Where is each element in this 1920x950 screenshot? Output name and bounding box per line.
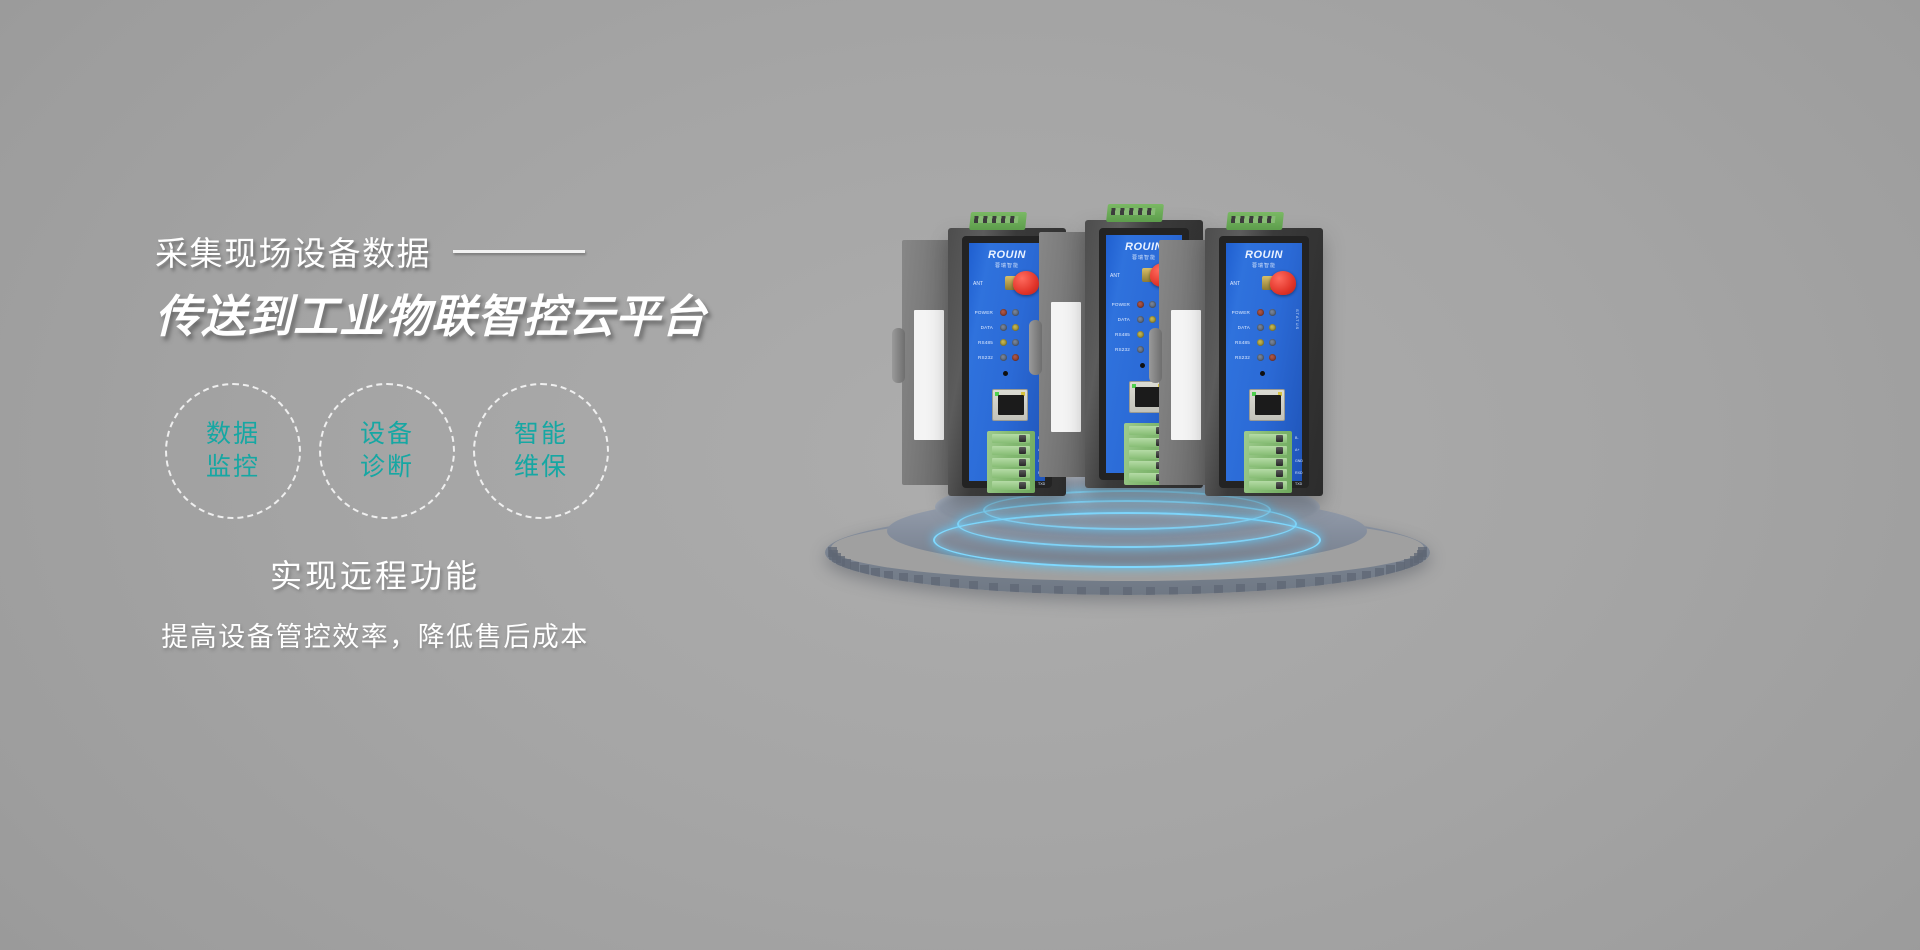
brand-logo: ROUIN bbox=[1125, 241, 1163, 253]
pedestal-tooth bbox=[931, 577, 940, 587]
pedestal-tooth bbox=[1375, 568, 1384, 578]
pedestal-tooth bbox=[1010, 584, 1019, 594]
headline-line-2: 传送到工业物联智控云平台 bbox=[155, 280, 855, 345]
status-led-indicator bbox=[1149, 316, 1156, 323]
status-led-label: DATA bbox=[1109, 317, 1132, 322]
power-terminal-top bbox=[969, 212, 1027, 230]
pedestal-tooth bbox=[1332, 575, 1341, 585]
hero-text-panel: 采集现场设备数据 传送到工业物联智控云平台 数据 监控 设备 诊断 智能 维保 … bbox=[155, 228, 855, 654]
pedestal-tooth bbox=[1192, 586, 1201, 595]
device-spec-sticker bbox=[1171, 310, 1201, 440]
status-led-label: DATA bbox=[1229, 325, 1252, 330]
pedestal-tooth bbox=[1214, 585, 1223, 595]
terminal-label: TXD bbox=[1295, 479, 1303, 491]
status-led-indicator bbox=[1000, 324, 1007, 331]
pedestal-tooth bbox=[1257, 583, 1266, 593]
subtitle-text: 实现远程功能 bbox=[155, 551, 595, 597]
status-led-indicator bbox=[1269, 354, 1276, 361]
power-terminal-top bbox=[1106, 204, 1164, 222]
device-spec-sticker bbox=[1051, 302, 1081, 432]
status-led-label: RS232 bbox=[972, 355, 995, 360]
pedestal-tooth bbox=[1315, 577, 1324, 587]
status-led-label: RS232 bbox=[1229, 355, 1252, 360]
badge-label-line1: 数据 bbox=[206, 419, 260, 451]
description-text: 提高设备管控效率，降低售后成本 bbox=[155, 615, 595, 654]
status-led-indicator bbox=[1137, 346, 1144, 353]
rj45-activity-led bbox=[1021, 392, 1025, 396]
status-led-indicator bbox=[1257, 309, 1264, 316]
reload-button[interactable] bbox=[1140, 363, 1145, 368]
pedestal-tooth bbox=[1236, 584, 1245, 594]
gateway-device-right[interactable]: ROUIN蓉瑞智能ANTPOWERDATARS485RS232STATUSB-A… bbox=[1205, 228, 1323, 496]
reload-button[interactable] bbox=[1260, 371, 1265, 376]
feature-badge-group: 数据 监控 设备 诊断 智能 维保 bbox=[165, 383, 855, 519]
din-rail-clip bbox=[892, 328, 905, 383]
status-led-row: DATA bbox=[1229, 320, 1313, 335]
status-led-indicator bbox=[1257, 339, 1264, 346]
antenna-label: ANT bbox=[1230, 281, 1240, 287]
status-led-row: RS485 bbox=[1229, 335, 1313, 350]
power-terminal-top bbox=[1226, 212, 1284, 230]
brand-logo-subtitle: 蓉瑞智能 bbox=[1252, 262, 1276, 269]
pedestal-tooth bbox=[899, 573, 908, 583]
device-metal-side bbox=[1039, 232, 1091, 477]
brand-logo-subtitle: 蓉瑞智能 bbox=[1132, 254, 1156, 261]
badge-label-line1: 设备 bbox=[360, 419, 414, 451]
din-rail-clip bbox=[1149, 328, 1162, 383]
pedestal-tooth bbox=[989, 583, 998, 593]
status-side-label: STATUS bbox=[1295, 309, 1300, 330]
pedestal-tooth bbox=[1386, 565, 1395, 575]
terminal-label: B- bbox=[1295, 433, 1303, 445]
status-led-label: POWER bbox=[1229, 310, 1252, 315]
status-led-indicator bbox=[1257, 354, 1264, 361]
status-led-label: RS485 bbox=[1229, 340, 1252, 345]
antenna-cap-icon[interactable] bbox=[1270, 271, 1296, 295]
serial-terminal-block[interactable] bbox=[1244, 431, 1292, 493]
headline-line-1: 采集现场设备数据 bbox=[155, 227, 431, 275]
pedestal-tooth bbox=[860, 565, 869, 575]
pedestal-tooth bbox=[950, 579, 959, 589]
status-led-indicator bbox=[1012, 324, 1019, 331]
pedestal-tooth bbox=[871, 568, 880, 578]
rj45-link-led bbox=[1132, 384, 1136, 388]
device-metal-side bbox=[902, 240, 954, 485]
pedestal-tooth bbox=[969, 581, 978, 591]
pedestal-tooth bbox=[1146, 587, 1155, 595]
status-led-indicator bbox=[1137, 316, 1144, 323]
terminal-label: TXD bbox=[1038, 479, 1046, 491]
antenna-cap-icon[interactable] bbox=[1013, 271, 1039, 295]
terminal-label: GND bbox=[1295, 456, 1303, 468]
ethernet-rj45-port[interactable] bbox=[992, 389, 1028, 421]
pedestal-glow-ring-3 bbox=[983, 490, 1271, 530]
antenna-label: ANT bbox=[1110, 273, 1120, 279]
ethernet-rj45-port[interactable] bbox=[1249, 389, 1285, 421]
serial-terminal-block[interactable] bbox=[987, 431, 1035, 493]
din-rail-clip bbox=[1029, 320, 1042, 375]
pedestal-tooth bbox=[884, 571, 893, 581]
brand-logo: ROUIN bbox=[1245, 249, 1283, 261]
pedestal-tooth bbox=[1123, 587, 1132, 595]
brand-logo: ROUIN bbox=[988, 249, 1026, 261]
product-scene: ROUIN蓉瑞智能ANTPOWERDATARS485RS232STATUSB-A… bbox=[800, 180, 1500, 630]
headline-row: 采集现场设备数据 bbox=[155, 228, 855, 274]
terminal-screw-slot bbox=[992, 481, 1030, 490]
status-led-group: POWERDATARS485RS232 bbox=[1229, 305, 1313, 365]
antenna-label: ANT bbox=[973, 281, 983, 287]
status-led-indicator bbox=[1000, 354, 1007, 361]
status-led-indicator bbox=[1269, 309, 1276, 316]
terminal-screw-slot bbox=[1249, 434, 1287, 443]
terminal-label-column: B-A+GNDRXDTXD bbox=[1295, 433, 1303, 491]
rj45-link-led bbox=[995, 392, 999, 396]
status-led-indicator bbox=[1257, 324, 1264, 331]
terminal-screw-slot bbox=[992, 458, 1030, 467]
status-led-row: POWER bbox=[1229, 305, 1313, 320]
status-led-indicator bbox=[1137, 331, 1144, 338]
headline-divider-rule bbox=[453, 250, 585, 253]
status-led-row: RS232 bbox=[1229, 350, 1313, 365]
device-metal-side bbox=[1159, 240, 1211, 485]
pedestal-tooth bbox=[850, 562, 859, 572]
pedestal-tooth bbox=[1347, 573, 1356, 583]
status-led-indicator bbox=[1269, 339, 1276, 346]
status-led-indicator bbox=[1012, 339, 1019, 346]
badge-label-line2: 监控 bbox=[206, 452, 260, 484]
pedestal-tooth bbox=[1100, 587, 1109, 595]
status-led-indicator bbox=[1149, 301, 1156, 308]
status-led-label: RS232 bbox=[1109, 347, 1132, 352]
pedestal-tooth bbox=[1362, 571, 1371, 581]
brand-logo-subtitle: 蓉瑞智能 bbox=[995, 262, 1019, 269]
status-led-indicator bbox=[1000, 309, 1007, 316]
terminal-screw-slot bbox=[992, 446, 1030, 455]
status-led-label: RS485 bbox=[1109, 332, 1132, 337]
terminal-label: A+ bbox=[1295, 445, 1303, 457]
status-led-label: RS485 bbox=[972, 340, 995, 345]
status-led-indicator bbox=[1137, 301, 1144, 308]
status-led-label: DATA bbox=[972, 325, 995, 330]
terminal-screw-slot bbox=[992, 434, 1030, 443]
status-led-indicator bbox=[1000, 339, 1007, 346]
reload-button[interactable] bbox=[1003, 371, 1008, 376]
rj45-activity-led bbox=[1278, 392, 1282, 396]
terminal-screw-slot bbox=[1249, 446, 1287, 455]
badge-label-line2: 维保 bbox=[514, 452, 568, 484]
device-front-panel: ROUIN蓉瑞智能ANTPOWERDATARS485RS232STATUSB-A… bbox=[1219, 236, 1309, 488]
feature-badge-device-diagnosis[interactable]: 设备 诊断 bbox=[319, 383, 455, 519]
pedestal-tooth bbox=[1077, 587, 1086, 596]
pedestal-tooth bbox=[914, 575, 923, 585]
status-led-indicator bbox=[1012, 354, 1019, 361]
status-led-label: POWER bbox=[1109, 302, 1132, 307]
pedestal-tooth bbox=[1418, 547, 1427, 557]
status-led-label: POWER bbox=[972, 310, 995, 315]
badge-label-line2: 诊断 bbox=[360, 452, 414, 484]
rj45-link-led bbox=[1252, 392, 1256, 396]
pedestal-tooth bbox=[1277, 581, 1286, 591]
product-pedestal bbox=[825, 470, 1430, 595]
pedestal-tooth bbox=[1032, 585, 1041, 595]
terminal-label: RXD bbox=[1295, 468, 1303, 480]
pedestal-tooth bbox=[1054, 586, 1063, 595]
terminal-screw-slot bbox=[1249, 481, 1287, 490]
status-led-indicator bbox=[1269, 324, 1276, 331]
terminal-screw-slot bbox=[1249, 469, 1287, 478]
status-led-indicator bbox=[1012, 309, 1019, 316]
terminal-screw-slot bbox=[992, 469, 1030, 478]
pedestal-tooth bbox=[1296, 579, 1305, 589]
device-spec-sticker bbox=[914, 310, 944, 440]
terminal-screw-slot bbox=[1249, 458, 1287, 467]
pedestal-tooth bbox=[1169, 587, 1178, 596]
feature-badge-smart-maintenance[interactable]: 智能 维保 bbox=[473, 383, 609, 519]
feature-badge-data-monitoring[interactable]: 数据 监控 bbox=[165, 383, 301, 519]
badge-label-line1: 智能 bbox=[514, 419, 568, 451]
